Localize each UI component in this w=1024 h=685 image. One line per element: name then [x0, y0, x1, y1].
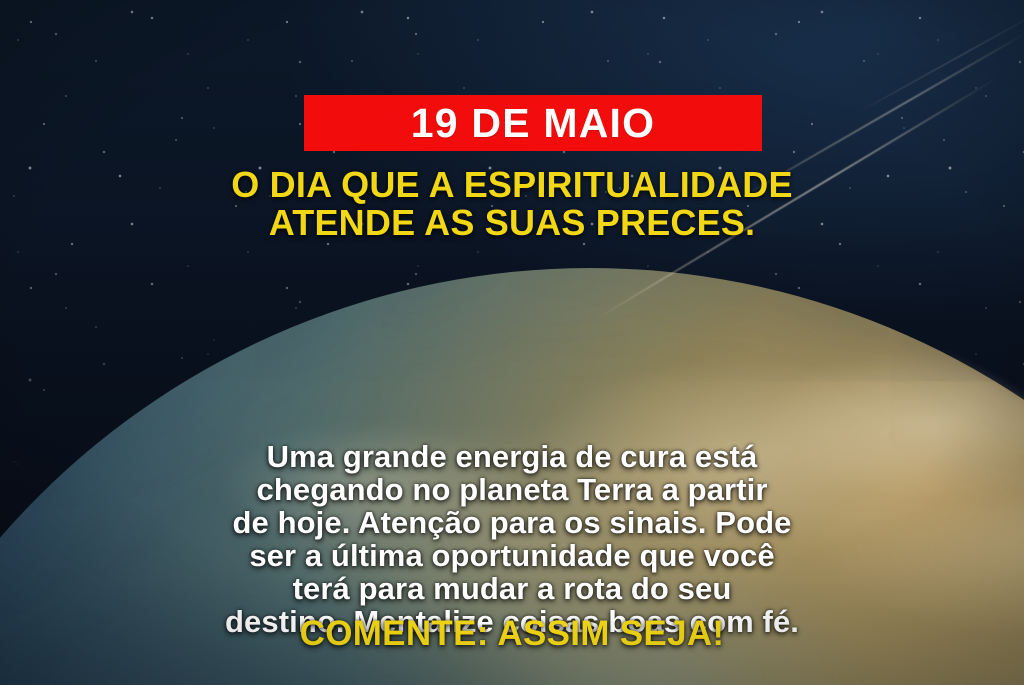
headline-line-2: ATENDE AS SUAS PRECES.	[0, 204, 1024, 242]
call-to-action-text: COMENTE: ASSIM SEJA!	[0, 615, 1024, 653]
body-line-2: chegando no planeta Terra a partir	[0, 473, 1024, 506]
poster-content: 19 DE MAIO O DIA QUE A ESPIRITUALIDADE A…	[0, 0, 1024, 685]
date-banner: 19 DE MAIO	[304, 95, 762, 151]
headline-line-1: O DIA QUE A ESPIRITUALIDADE	[0, 166, 1024, 204]
body-line-4: ser a última oportunidade que você	[0, 539, 1024, 572]
headline: O DIA QUE A ESPIRITUALIDADE ATENDE AS SU…	[0, 166, 1024, 242]
body-paragraph: Uma grande energia de cura está chegando…	[0, 440, 1024, 638]
poster-canvas: 19 DE MAIO O DIA QUE A ESPIRITUALIDADE A…	[0, 0, 1024, 685]
body-line-3: de hoje. Atenção para os sinais. Pode	[0, 506, 1024, 539]
date-banner-text: 19 DE MAIO	[411, 103, 655, 144]
body-line-5: terá para mudar a rota do seu	[0, 572, 1024, 605]
body-line-1: Uma grande energia de cura está	[0, 440, 1024, 473]
